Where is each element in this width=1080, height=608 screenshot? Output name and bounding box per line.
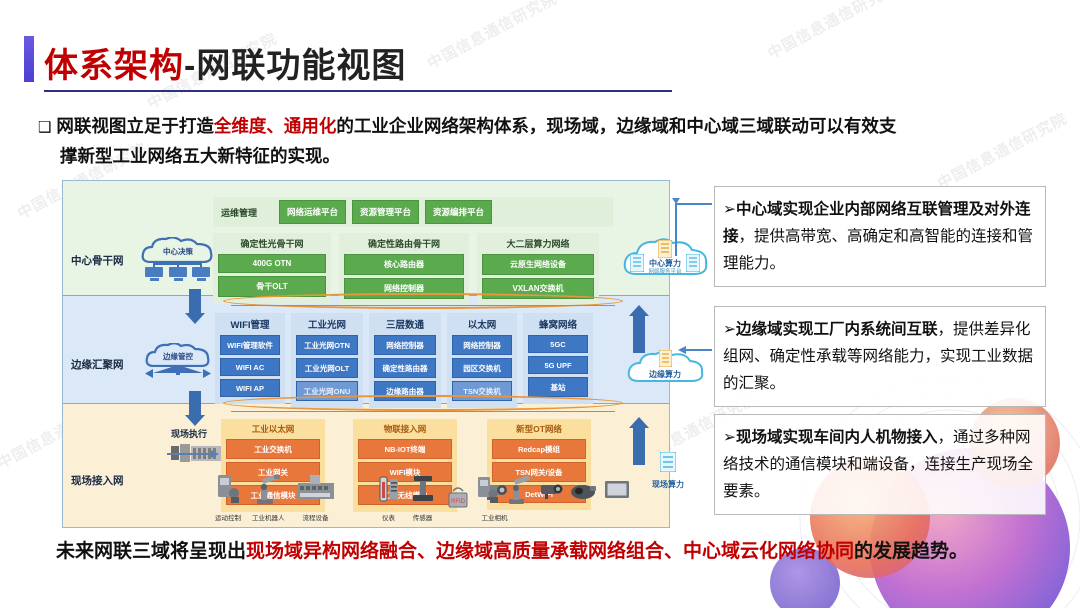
upward-flow-bar: [633, 425, 645, 465]
callout-connectors: [660, 186, 720, 506]
edge-item[interactable]: 工业光网OTN: [296, 335, 358, 355]
lead-text-1: 网联视图立足于打造: [56, 116, 214, 136]
bullet-marker: ❑: [38, 119, 51, 136]
field-item[interactable]: 工业交换机: [226, 439, 320, 459]
ops-chip-network[interactable]: 网络运维平台: [279, 200, 346, 224]
edge-group-ethernet: 以太网 网络控制器 园区交换机 TSN交换机: [447, 313, 517, 408]
motion-controller-icon: [215, 473, 241, 505]
motion-controller-icon: [475, 475, 501, 505]
group-title: 三层数通: [374, 317, 436, 331]
zone-label-center: 中心骨干网: [71, 253, 124, 268]
edge-item[interactable]: 网络控制器: [374, 335, 436, 355]
edge-item[interactable]: 网络控制器: [452, 335, 512, 355]
device-process-equipment: 流程设备: [296, 473, 336, 522]
callout-marker: ➢: [723, 321, 736, 338]
device-row-ot: [475, 475, 631, 505]
edge-control-label: 边缘管控: [145, 351, 211, 362]
summary-paragraph: 未来网联三域将呈现出现场域异构网络融合、边缘域高质量承载网络组合、中心域云化网络…: [56, 536, 1056, 567]
center-decision-label: 中心决策: [141, 246, 215, 257]
green-divider: [231, 411, 615, 412]
ops-chip-resource-orch[interactable]: 资源编排平台: [425, 200, 492, 224]
edge-group-wifi: WIFI管理 WIFI管理软件 WIFI AC WIFI AP: [215, 313, 285, 404]
device-motion-controller: 运动控制: [215, 473, 241, 522]
architecture-diagram: 中心骨干网 边缘汇聚网 现场接入网 中心决策 边缘管控: [62, 180, 670, 528]
callout-field-domain: ➢现场域实现车间内人机物接入，通过多种网络技术的通信模块和端设备，连接生产现场全…: [714, 414, 1046, 515]
compute-stack-icon: [630, 254, 644, 272]
callout-center-domain: ➢中心域实现企业内部网络互联管理及对外连接，提供高带宽、高确定和高智能的连接和管…: [714, 186, 1046, 287]
group-title: 工业光网: [296, 317, 358, 331]
edge-item[interactable]: WIFI AP: [220, 379, 280, 397]
group-title: 新型OT网络: [492, 423, 586, 435]
lead-highlight: 全维度、通用化: [214, 116, 337, 136]
device-caption: 工业相机: [481, 512, 509, 522]
industrial-tablet-icon: [603, 475, 631, 505]
downward-flow-bar: [189, 391, 201, 417]
group-title: 以太网: [452, 317, 512, 331]
green-divider: [231, 305, 615, 306]
field-exec-label: 现场执行: [171, 427, 227, 440]
connector-arrow-icon: [167, 449, 219, 459]
callout-rest-text: ，提供高带宽、高确定和高智能的连接和管理能力。: [723, 228, 1033, 272]
group-title: 大二层算力网络: [482, 237, 594, 250]
center-item[interactable]: 400G OTN: [218, 254, 326, 273]
edge-group-cellular: 蜂窝网络 5GC 5G UPF 基站: [523, 313, 593, 404]
server-stack-icon: [141, 261, 215, 283]
zone-label-edge: 边缘汇聚网: [71, 357, 124, 372]
zone-label-field: 现场接入网: [71, 473, 124, 488]
lead-text-2: 的工业企业网络架构体系，现场域，边缘域和中心域三域联动可以有效支: [336, 116, 896, 136]
device-industrial-robot: 工业机器人: [252, 473, 285, 522]
sensor-icon: [411, 473, 435, 505]
ops-management-label: 运维管理: [221, 206, 273, 219]
device-caption: 传感器: [411, 512, 435, 522]
field-item[interactable]: NB-IOT终端: [358, 439, 452, 459]
instrument-icon: [378, 473, 400, 505]
lead-paragraph: ❑ 网联视图立足于打造全维度、通用化的工业企业网络架构体系，现场域，边缘域和中心…: [38, 112, 1062, 171]
device-caption: 仪表: [378, 512, 400, 522]
group-title: 工业以太网: [226, 423, 320, 435]
industrial-camera-icon: [539, 475, 565, 505]
watermark: 中国信息通信研究院: [763, 0, 900, 64]
page-title: 体系架构-网联功能视图: [44, 38, 406, 87]
edge-item[interactable]: 园区交换机: [452, 358, 512, 378]
callout-edge-domain: ➢边缘域实现工厂内系统间互联，提供差异化组网、确定性承载等网络能力，实现工业数据…: [714, 306, 1046, 407]
center-item[interactable]: 云原生网络设备: [482, 254, 594, 275]
domain-ring-bottom: [223, 395, 623, 411]
device-caption: 流程设备: [296, 512, 336, 522]
group-title: 确定性路由骨干网: [344, 237, 464, 250]
group-title: 蜂窝网络: [528, 317, 588, 331]
edge-item[interactable]: WIFI AC: [220, 358, 280, 376]
summary-highlight: 现场域异构网络融合、边缘域高质量承载网络组合、中心域云化网络协同: [246, 541, 854, 562]
rfid-icon: RFID: [446, 483, 470, 515]
field-exec-label-group: 现场执行: [171, 427, 227, 468]
upward-flow-bar: [633, 313, 645, 353]
edge-group-optical: 工业光网 工业光网OTN 工业光网OLT 工业光网ONU: [291, 313, 363, 408]
device-instrument: 仪表: [378, 473, 400, 522]
group-title: 物联接入网: [358, 423, 452, 435]
page-title-rest: -网联功能视图: [184, 47, 406, 85]
field-item[interactable]: Redcap模组: [492, 439, 586, 459]
upward-arrow-head: [629, 305, 649, 316]
downward-flow-bar: [189, 289, 201, 315]
callout-marker: ➢: [723, 201, 736, 218]
callout-bold-text: 现场域实现车间内人机物接入: [736, 429, 938, 446]
ops-management-row: 运维管理 网络运维平台 资源管理平台 资源编排平台: [213, 197, 613, 227]
device-caption: 工业机器人: [252, 512, 285, 522]
edge-group-l3: 三层数通 网络控制器 确定性路由器 边缘路由器: [369, 313, 441, 408]
edge-item[interactable]: WIFI管理软件: [220, 335, 280, 355]
edge-item[interactable]: 基站: [528, 377, 588, 397]
page-title-accent: 体系架构: [44, 47, 184, 85]
device-rfid: RFID: [446, 483, 470, 522]
watermark: 中国信息通信研究院: [423, 0, 560, 74]
lead-text-3: 撑新型工业网络五大新特征的实现。: [60, 142, 340, 171]
process-equipment-icon: [296, 473, 336, 505]
bidirectional-arrows-icon: [145, 365, 211, 387]
summary-text-2: 的发展趋势。: [854, 541, 968, 562]
edge-item[interactable]: 5G UPF: [528, 356, 588, 374]
edge-item[interactable]: 工业光网OLT: [296, 358, 358, 378]
title-accent-bar: [24, 36, 34, 82]
center-decision-cloud-group: 中心决策: [141, 237, 215, 283]
callout-bold-text: 边缘域实现工厂内系统间互联: [736, 321, 938, 338]
industrial-robot-icon: [506, 475, 534, 505]
domain-ring-top: [223, 293, 623, 309]
upward-arrow-head: [629, 417, 649, 428]
downward-arrow-head: [185, 415, 205, 426]
summary-text-1: 未来网联三域将呈现出: [56, 541, 246, 562]
svg-text:RFID: RFID: [451, 499, 466, 505]
callout-marker: ➢: [723, 429, 736, 446]
device-sensor: 传感器: [411, 473, 435, 522]
ops-chip-resource-mgmt[interactable]: 资源管理平台: [352, 200, 419, 224]
edge-item[interactable]: 确定性路由器: [374, 358, 436, 378]
group-title: 确定性光骨干网: [218, 237, 326, 250]
title-underline: [44, 90, 672, 92]
downward-arrow-head: [185, 313, 205, 324]
group-title: WIFI管理: [220, 317, 280, 331]
industrial-robot-icon: [254, 473, 282, 505]
edge-item[interactable]: 5GC: [528, 335, 588, 353]
center-item[interactable]: 核心路由器: [344, 254, 464, 275]
dome-camera-icon: [570, 475, 598, 505]
device-row: 运动控制 工业机器人 流程设备: [215, 473, 509, 522]
device-caption: 运动控制: [215, 512, 241, 522]
edge-control-cloud-group: 边缘管控: [145, 343, 211, 387]
